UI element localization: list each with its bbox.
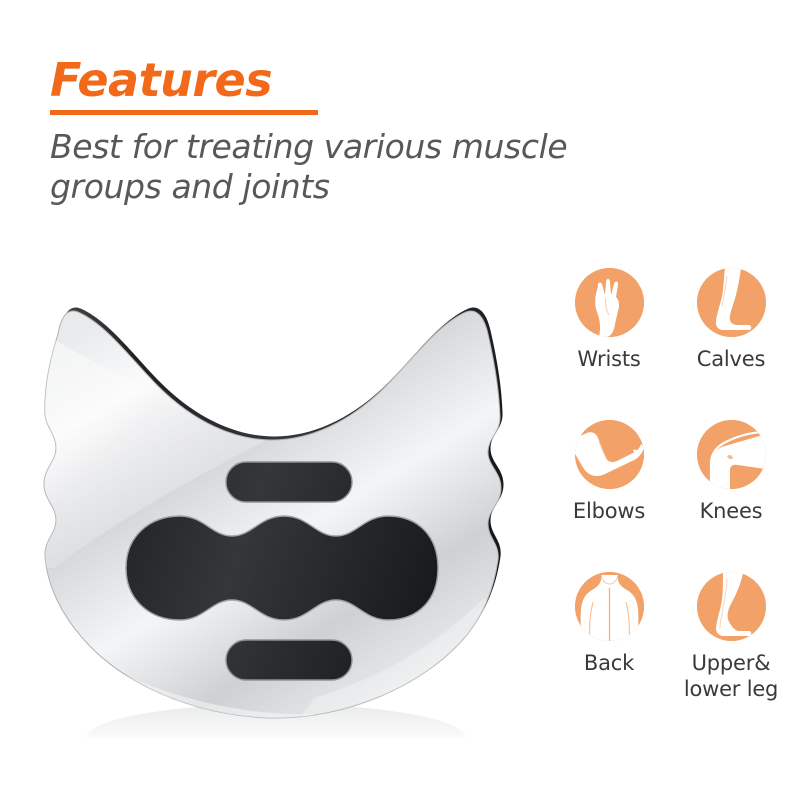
benefit-icon-circle	[697, 572, 766, 641]
benefit-icon-circle	[575, 572, 644, 641]
page-subtitle: Best for treating various muscle groups …	[50, 127, 650, 207]
calf-leg-icon	[697, 268, 766, 337]
benefit-item-wrists[interactable]: Wrists	[548, 268, 670, 420]
benefit-icon-circle	[697, 268, 766, 337]
benefit-item-upper-lower-leg[interactable]: Upper& lower leg	[670, 572, 792, 724]
product-illustration	[14, 268, 534, 738]
benefit-icon-circle	[575, 268, 644, 337]
benefit-item-elbows[interactable]: Elbows	[548, 420, 670, 572]
header-block: Features Best for treating various muscl…	[50, 54, 690, 207]
benefit-item-back[interactable]: Back	[548, 572, 670, 724]
benefit-label: Elbows	[573, 498, 645, 524]
benefit-label: Upper& lower leg	[684, 650, 778, 702]
benefit-label: Wrists	[577, 346, 640, 372]
full-leg-icon	[697, 572, 766, 641]
benefit-label: Knees	[700, 498, 763, 524]
bent-elbow-icon	[575, 420, 644, 489]
page-title: Features	[50, 54, 690, 106]
benefit-icon-circle	[575, 420, 644, 489]
benefits-grid: Wrists Calves E	[548, 268, 792, 724]
benefit-item-calves[interactable]: Calves	[670, 268, 792, 420]
upper-back-torso-icon	[575, 572, 644, 641]
title-underline-rule	[50, 110, 318, 115]
features-infographic: Features Best for treating various muscl…	[0, 0, 800, 800]
benefit-label: Back	[584, 650, 634, 676]
benefit-icon-circle	[697, 420, 766, 489]
benefit-item-knees[interactable]: Knees	[670, 420, 792, 572]
bent-knee-icon	[697, 420, 766, 489]
wrist-hand-icon	[575, 268, 644, 337]
product-image-gua-sha-tool	[14, 268, 534, 738]
benefit-label: Calves	[697, 346, 765, 372]
